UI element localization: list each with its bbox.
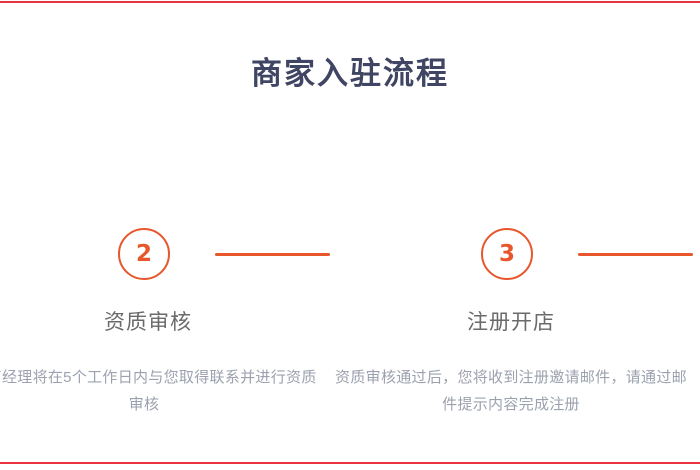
top-divider-rule [0,1,700,3]
step-description: 招商经理将在5个工作日内与您取得联系并进行资质审核 [0,364,324,418]
step-connector-line [215,253,330,256]
step-number-circle-icon: 2 [118,228,170,280]
step-number-circle-icon: 3 [481,228,533,280]
process-step-register-store: 3 注册开店 资质审核通过后，您将收到注册邀请邮件，请通过邮件提示内容完成注册 [331,228,691,458]
process-step-list: 2 资质审核 招商经理将在5个工作日内与您取得联系并进行资质审核 3 注册开店 … [0,228,700,458]
step-description: 资质审核通过后，您将收到注册邀请邮件，请通过邮件提示内容完成注册 [331,364,691,418]
process-step-qualification-review: 2 资质审核 招商经理将在5个工作日内与您取得联系并进行资质审核 [0,228,328,458]
step-title: 资质审核 [0,306,328,336]
step-marker: 2 [0,228,328,288]
step-number-label: 3 [499,243,515,266]
step-title: 注册开店 [331,306,691,336]
step-marker: 3 [331,228,691,288]
bottom-divider-rule [0,462,700,464]
step-connector-line [578,253,693,256]
page-title: 商家入驻流程 [0,55,700,92]
merchant-onboarding-page: 商家入驻流程 2 资质审核 招商经理将在5个工作日内与您取得联系并进行资质审核 … [0,0,700,470]
step-number-label: 2 [136,243,152,266]
